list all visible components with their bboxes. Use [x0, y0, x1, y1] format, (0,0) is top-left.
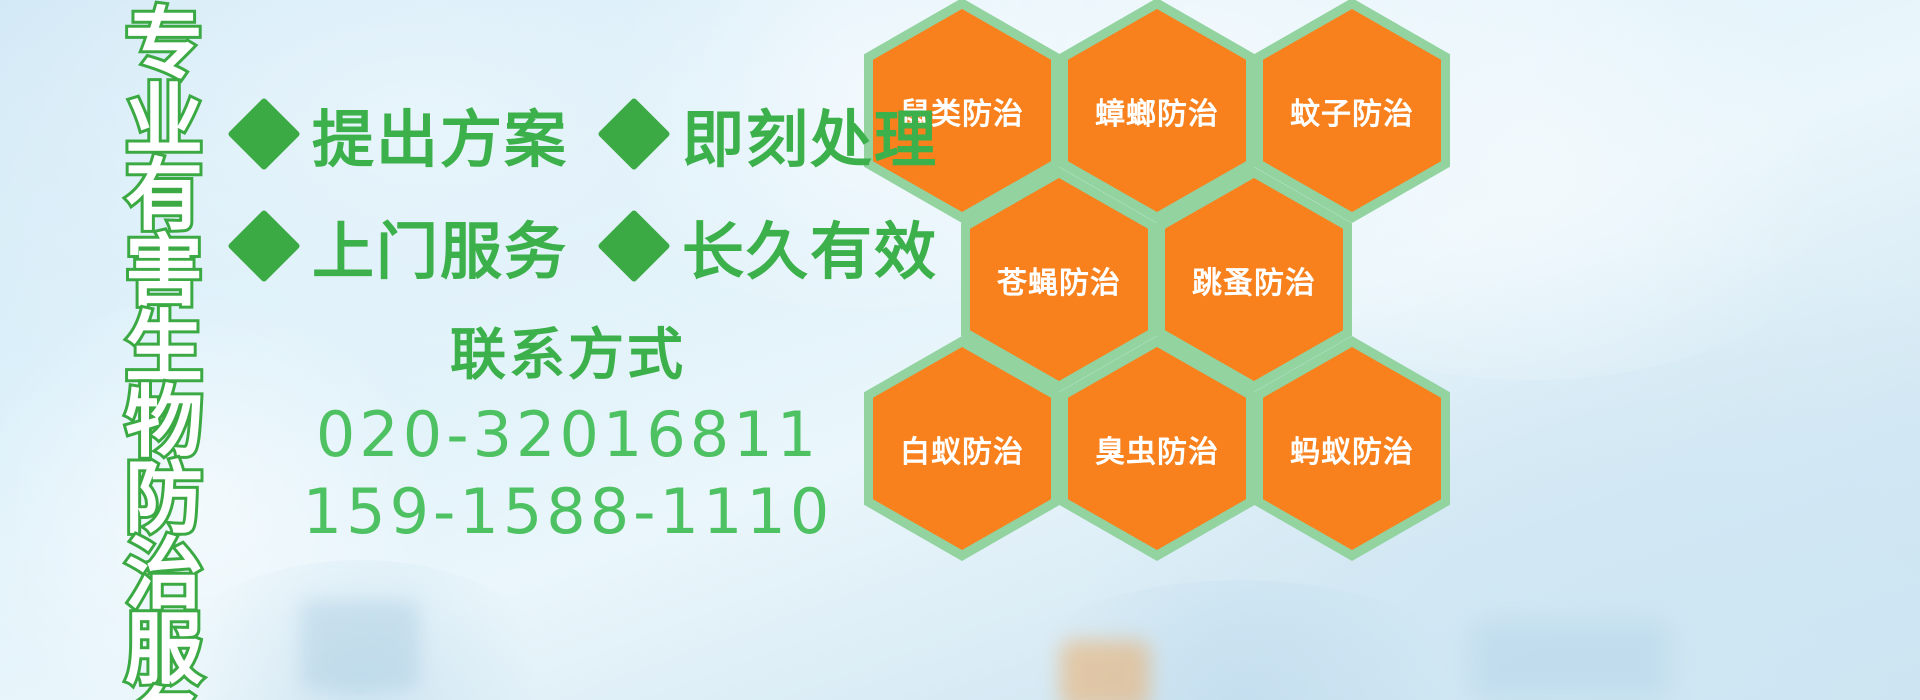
feature-label: 提出方案: [312, 89, 568, 179]
headline-char-7: 防: [125, 462, 203, 538]
hex-inner: 蚊子防治: [1263, 9, 1441, 212]
feature-item-long-lasting: 长久有效: [608, 201, 938, 291]
hex-label: 跳蚤防治: [1192, 258, 1316, 302]
hex-label: 蟑螂防治: [1095, 89, 1219, 133]
headline-char-4: 害: [125, 235, 203, 311]
diamond-icon: [597, 97, 671, 171]
service-honeycomb: 鼠类防治 蟑螂防治 蚊子防治 苍蝇防治 跳蚤防治 白蚁防治: [856, 0, 1476, 692]
phone-number-mobile[interactable]: 159-1588-1110: [238, 474, 898, 551]
feature-item-immediate-handling: 即刻处理: [608, 89, 938, 179]
headline-char-8: 治: [125, 538, 203, 614]
headline-char-1: 专: [125, 8, 203, 84]
headline-char-10: 务: [125, 689, 203, 700]
diamond-icon: [227, 209, 301, 283]
hex-inner: 臭虫防治: [1068, 347, 1246, 550]
hex-inner: 蟑螂防治: [1068, 9, 1246, 212]
headline-char-6: 物: [125, 386, 203, 462]
diamond-icon: [597, 209, 671, 283]
feature-label: 即刻处理: [682, 89, 938, 179]
headline-char-9: 服: [125, 613, 203, 689]
hex-inner: 白蚁防治: [873, 347, 1051, 550]
feature-label: 上门服务: [312, 201, 568, 291]
diamond-icon: [227, 97, 301, 171]
contact-title: 联系方式: [238, 310, 898, 391]
pest-control-banner: 专 业 有 害 生 物 防 治 服 务 提出方案 即刻处理 上门服务: [0, 0, 1920, 700]
hex-inner: 跳蚤防治: [1165, 178, 1343, 381]
feature-label: 长久有效: [682, 201, 938, 291]
hex-label: 蚊子防治: [1290, 89, 1414, 133]
contact-block: 联系方式 020-32016811 159-1588-1110: [238, 310, 898, 551]
feature-row-1: 提出方案 即刻处理: [238, 78, 878, 190]
feature-item-propose-plan: 提出方案: [238, 89, 568, 179]
hex-label: 白蚁防治: [900, 427, 1024, 471]
hex-label: 蚂蚁防治: [1290, 427, 1414, 471]
vertical-headline: 专 业 有 害 生 物 防 治 服 务: [104, 8, 224, 688]
headline-char-3: 有: [125, 159, 203, 235]
background-blur-shape-3: [1470, 620, 1670, 700]
hex-label: 臭虫防治: [1095, 427, 1219, 471]
hex-label: 苍蝇防治: [997, 258, 1121, 302]
feature-list: 提出方案 即刻处理 上门服务 长久有效: [238, 78, 878, 302]
hex-inner: 蚂蚁防治: [1263, 347, 1441, 550]
hex-inner: 苍蝇防治: [970, 178, 1148, 381]
feature-item-onsite-service: 上门服务: [238, 201, 568, 291]
background-blur-shape-1: [300, 600, 420, 690]
phone-number-landline[interactable]: 020-32016811: [238, 397, 898, 474]
headline-char-5: 生: [125, 311, 203, 387]
headline-char-2: 业: [125, 84, 203, 160]
feature-row-2: 上门服务 长久有效: [238, 190, 878, 302]
